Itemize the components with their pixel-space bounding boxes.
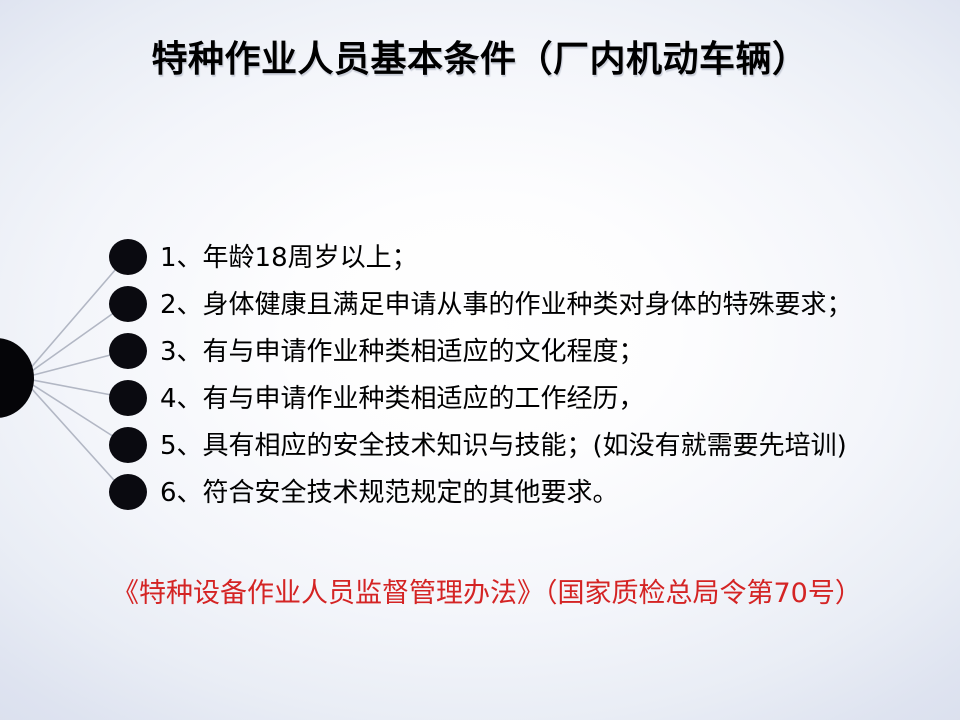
list-item: 5、具有相应的安全技术知识与技能；(如没有就需要先培训) (160, 422, 847, 469)
list-item: 1、年龄18周岁以上； (160, 234, 418, 281)
conditions-list: 1、年龄18周岁以上； 2、身体健康且满足申请从事的作业种类对身体的特殊要求； … (0, 0, 960, 720)
list-item: 2、身体健康且满足申请从事的作业种类对身体的特殊要求； (160, 281, 853, 328)
footer-regulation-reference: 《特种设备作业人员监督管理办法》（国家质检总局令第70号） (112, 571, 862, 610)
condition-text-3: 3、有与申请作业种类相适应的文化程度； (160, 339, 645, 365)
condition-text-1: 1、年龄18周岁以上； (160, 245, 418, 271)
list-item: 4、有与申请作业种类相适应的工作经历， (160, 375, 645, 422)
list-item: 6、符合安全技术规范规定的其他要求。 (160, 469, 619, 516)
condition-text-4: 4、有与申请作业种类相适应的工作经历， (160, 386, 645, 412)
condition-text-2: 2、身体健康且满足申请从事的作业种类对身体的特殊要求； (160, 292, 853, 318)
slide-canvas: 特种作业人员基本条件（厂内机动车辆） 1、年龄18周岁以上； 2、身体健康且满足… (0, 0, 960, 720)
condition-text-5: 5、具有相应的安全技术知识与技能；(如没有就需要先培训) (160, 433, 847, 459)
list-item: 3、有与申请作业种类相适应的文化程度； (160, 328, 645, 375)
condition-text-6: 6、符合安全技术规范规定的其他要求。 (160, 480, 619, 506)
